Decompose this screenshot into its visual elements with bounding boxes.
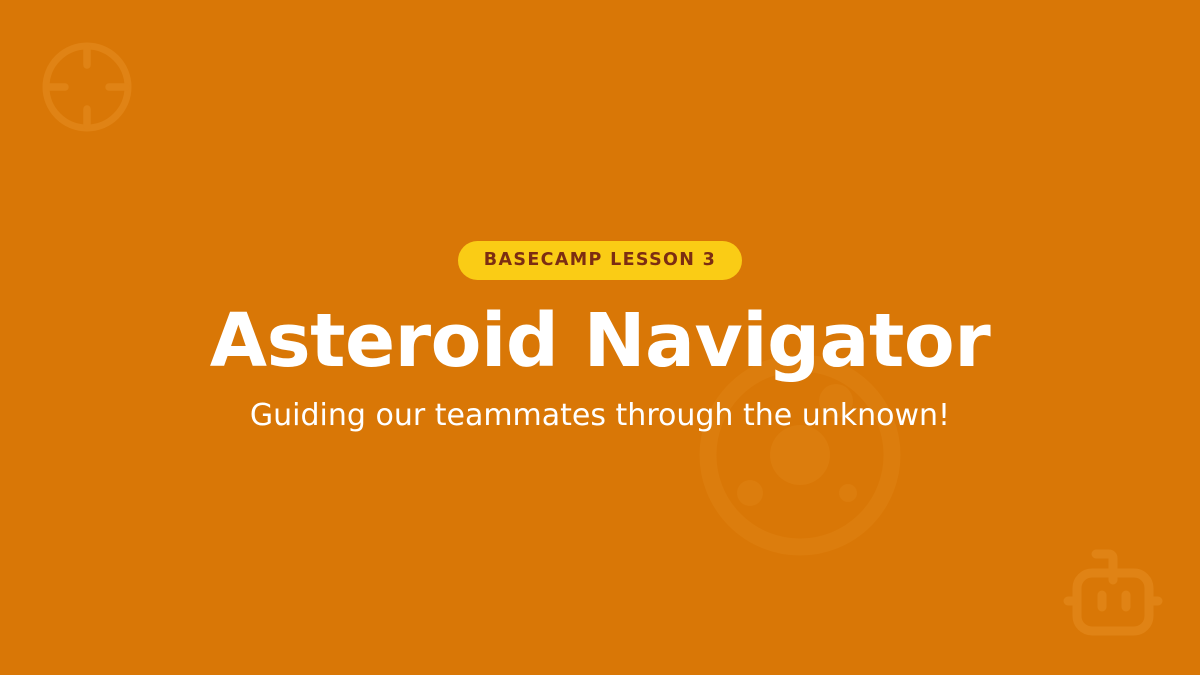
slide-content: BASECAMP LESSON 3 Asteroid Navigator Gui… — [0, 0, 1200, 675]
slide-subtitle: Guiding our teammates through the unknow… — [250, 398, 950, 434]
slide-title: Asteroid Navigator — [210, 303, 990, 380]
lesson-badge: BASECAMP LESSON 3 — [458, 241, 742, 280]
title-slide: BASECAMP LESSON 3 Asteroid Navigator Gui… — [0, 0, 1200, 675]
